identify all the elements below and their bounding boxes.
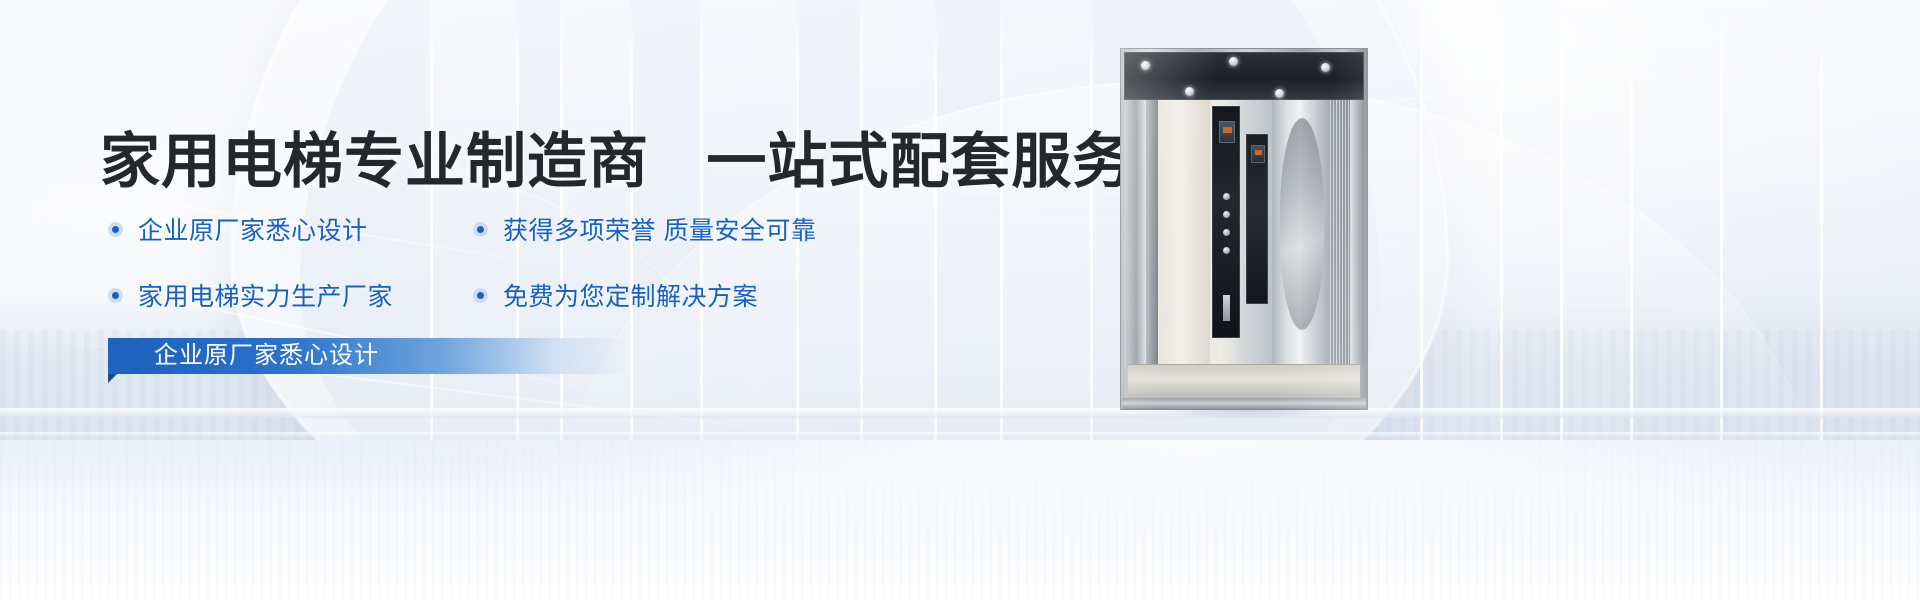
floor-button	[1223, 211, 1230, 218]
list-item-label: 企业原厂家悉心设计	[138, 211, 368, 247]
floor-indicator-display-right	[1251, 145, 1265, 163]
bullet-dot-icon	[108, 222, 123, 237]
elevator-ceiling-canopy	[1124, 52, 1364, 100]
elevator-base-plinth	[1122, 398, 1366, 410]
cabin-door-panel-left	[1158, 100, 1210, 366]
control-handrail	[1223, 295, 1230, 321]
bullet-dot-icon	[108, 288, 123, 303]
elevator-stile-left	[1124, 100, 1146, 366]
list-item: 家用电梯实力生产厂家	[108, 278, 473, 312]
floor-button	[1223, 193, 1230, 200]
banner-content: 家用电梯专业制造商 一站式配套服务 企业原厂家悉心设计 获得多项荣誉 质量安全可…	[0, 0, 1100, 600]
elevator-cabin-interior	[1128, 100, 1360, 366]
floor-indicator-display	[1219, 121, 1235, 143]
feature-bullet-list: 企业原厂家悉心设计 获得多项荣誉 质量安全可靠 家用电梯实力生产厂家 免费为您定…	[108, 212, 898, 312]
bullet-dot-icon	[473, 288, 488, 303]
canopy-light-icon	[1275, 89, 1284, 98]
ribbon-label: 企业原厂家悉心设计	[154, 338, 379, 374]
canopy-light-icon	[1185, 87, 1194, 96]
control-panel-left	[1212, 106, 1240, 338]
headline-part-2: 一站式配套服务	[706, 128, 1133, 195]
list-item: 免费为您定制解决方案	[473, 278, 838, 312]
canopy-light-icon	[1141, 61, 1150, 70]
list-item-label: 获得多项荣誉 质量安全可靠	[503, 211, 816, 247]
list-item-label: 家用电梯实力生产厂家	[138, 277, 393, 313]
elevator-cabin-floor	[1128, 364, 1360, 400]
ribbon-fold-tab	[108, 338, 138, 374]
highlight-ribbon: 企业原厂家悉心设计	[108, 338, 628, 374]
list-item: 企业原厂家悉心设计	[108, 212, 473, 246]
elevator-product-image	[1120, 48, 1368, 410]
page-title: 家用电梯专业制造商 一站式配套服务	[100, 113, 1133, 200]
canopy-light-icon	[1229, 57, 1238, 66]
cabin-mirror-panel	[1272, 100, 1334, 366]
elevator-stile-right	[1350, 100, 1364, 366]
headline-part-1: 家用电梯专业制造商	[100, 128, 649, 195]
list-item-label: 免费为您定制解决方案	[503, 277, 758, 313]
control-panel-right	[1246, 134, 1268, 304]
promo-banner: 家用电梯专业制造商 一站式配套服务 企业原厂家悉心设计 获得多项荣誉 质量安全可…	[0, 0, 1920, 600]
floor-button	[1223, 247, 1230, 254]
bullet-dot-icon	[473, 222, 488, 237]
list-item: 获得多项荣誉 质量安全可靠	[473, 212, 838, 246]
canopy-light-icon	[1321, 63, 1330, 72]
floor-button	[1223, 229, 1230, 236]
